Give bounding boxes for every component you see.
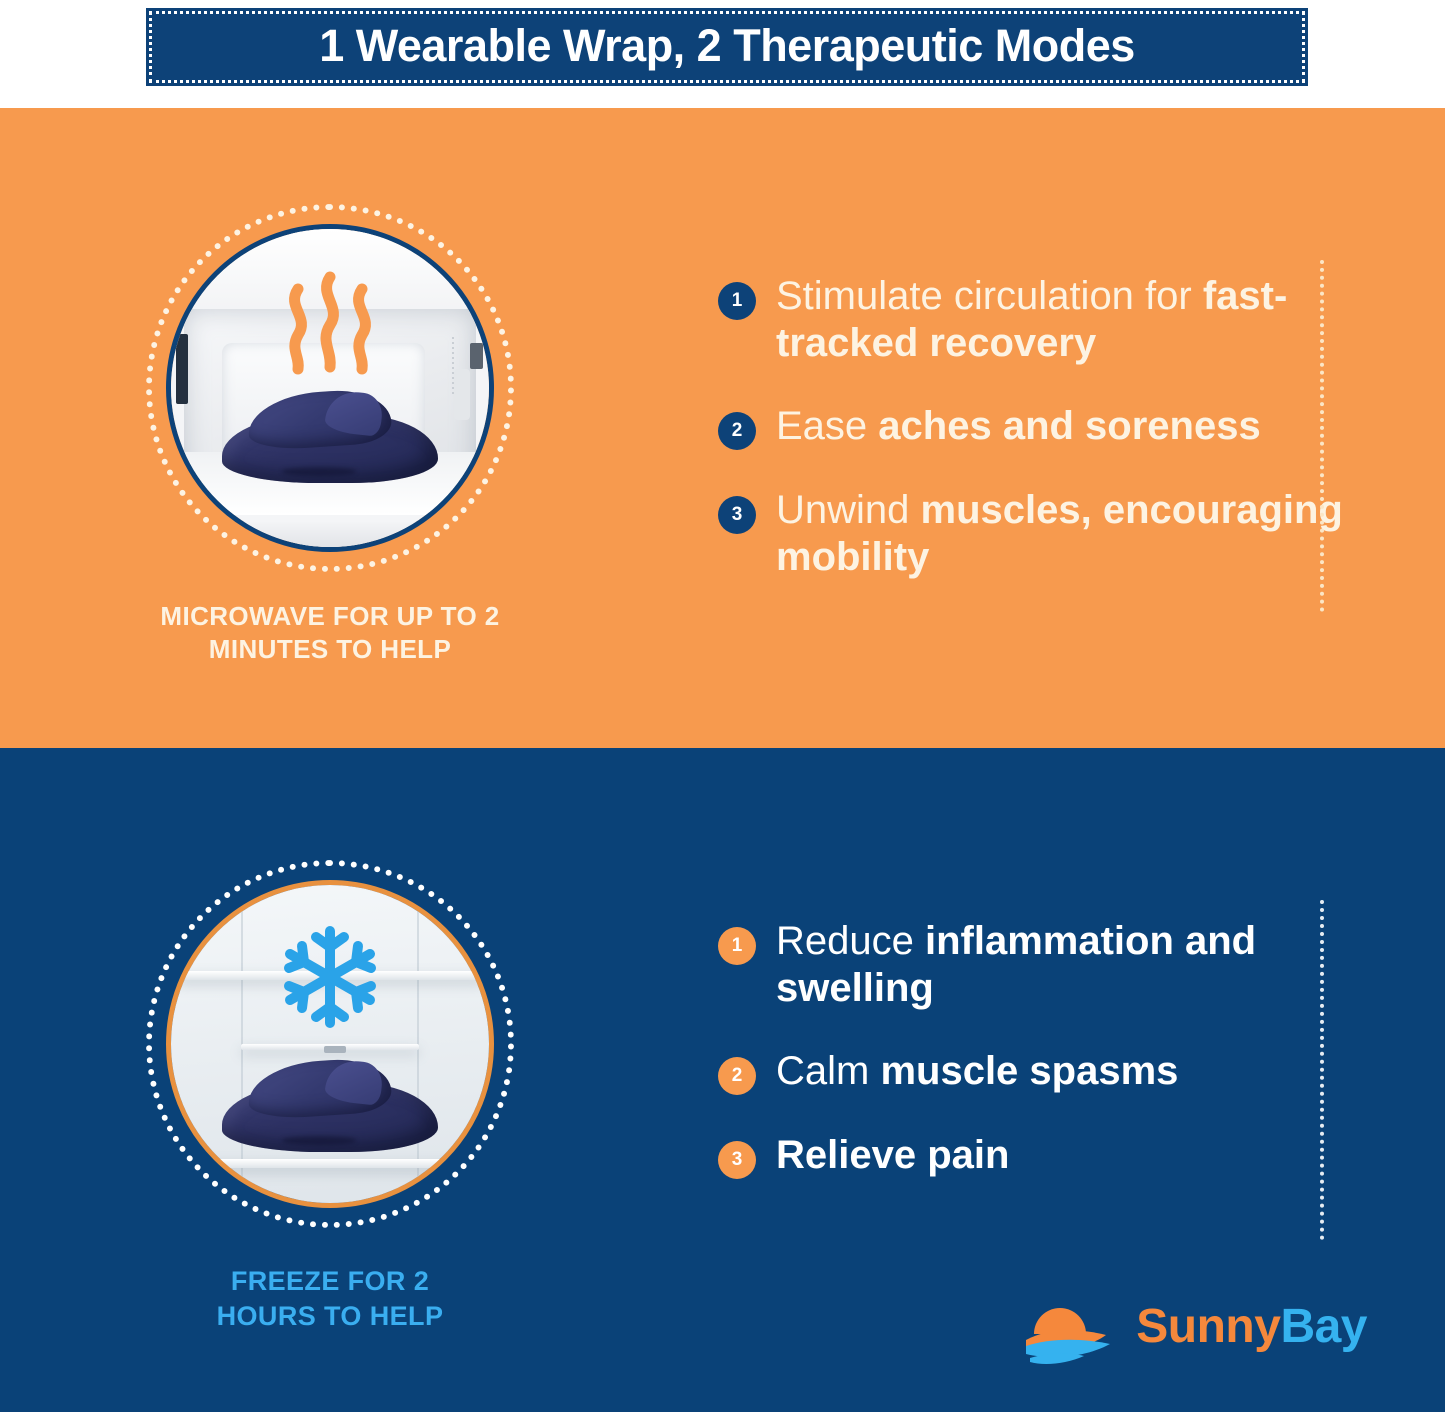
microwave-hinge [176,334,189,404]
benefit-lead-text: Stimulate circulation for [776,274,1203,318]
microwave-vent [452,337,454,394]
cold-caption: FREEZE FOR 2 HOURS TO HELP [217,1264,444,1333]
list-item: 1 Reduce inflammation and swelling [718,918,1445,1012]
benefit-lead-text: Reduce [776,919,925,963]
freezer-shelf-clip [324,1046,346,1053]
benefit-text: Calm muscle spasms [776,1048,1178,1095]
infographic-page: 1 Wearable Wrap, 2 Therapeutic Modes [0,0,1445,1412]
benefit-lead-text: Ease [776,404,878,448]
list-item: 2 Ease aches and soreness [718,403,1445,450]
microwave-circle-image [146,204,514,572]
benefit-number-badge: 1 [718,927,756,965]
benefit-lead-text: Unwind [776,488,921,532]
benefit-number-badge: 2 [718,1057,756,1095]
cold-benefits-list: 1 Reduce inflammation and swelling 2 Cal… [660,748,1445,1179]
heat-benefits-list: 1 Stimulate circulation for fast-tracked… [660,108,1445,581]
benefit-strong-text: muscle spasms [880,1049,1178,1093]
list-item: 3 Relieve pain [718,1132,1445,1179]
cold-media-column: FREEZE FOR 2 HOURS TO HELP [0,748,660,1412]
benefit-text: Ease aches and soreness [776,403,1261,450]
heat-therapy-section: MICROWAVE FOR UP TO 2 MINUTES TO HELP 1 … [0,108,1445,748]
list-item: 2 Calm muscle spasms [718,1048,1445,1095]
freezer-circle-image [146,860,514,1228]
heat-caption-line-1: MICROWAVE FOR UP TO 2 [160,600,499,633]
cold-dotted-divider [1320,900,1324,1240]
benefit-lead-text: Calm [776,1049,880,1093]
snowflake-icon [276,923,384,1031]
title-banner: 1 Wearable Wrap, 2 Therapeutic Modes [146,8,1308,86]
freezer-scene [171,885,489,1203]
heat-waves-icon [278,267,382,379]
navy-wrap-product [222,388,438,483]
sun-over-waves-icon [1026,1288,1130,1366]
freezer-shelf [177,1159,482,1168]
cold-caption-line-2: HOURS TO HELP [217,1299,444,1334]
brand-name-part-2: Bay [1280,1300,1367,1353]
title-banner-dotted-border: 1 Wearable Wrap, 2 Therapeutic Modes [149,11,1305,83]
benefit-strong-text: Relieve pain [776,1133,1009,1177]
heat-dotted-divider [1320,260,1324,612]
microwave-latch [470,343,483,368]
wrap-seam [282,467,356,476]
heat-caption-line-2: MINUTES TO HELP [160,633,499,666]
cold-therapy-section: FREEZE FOR 2 HOURS TO HELP 1 Reduce infl… [0,748,1445,1412]
navy-wrap-product [222,1057,438,1152]
microwave-base-strip [171,522,489,547]
list-item: 3 Unwind muscles, encouraging mobility [718,487,1445,581]
benefit-strong-text: aches and soreness [878,404,1260,448]
wrap-seam [282,1136,356,1145]
list-item: 1 Stimulate circulation for fast-tracked… [718,273,1445,367]
benefit-number-badge: 2 [718,412,756,450]
page-title: 1 Wearable Wrap, 2 Therapeutic Modes [319,23,1135,71]
heat-caption: MICROWAVE FOR UP TO 2 MINUTES TO HELP [160,600,499,667]
brand-logo: SunnyBay [1026,1284,1367,1370]
microwave-photo [166,224,494,552]
benefit-number-badge: 3 [718,496,756,534]
heat-media-column: MICROWAVE FOR UP TO 2 MINUTES TO HELP [0,108,660,748]
cold-caption-line-1: FREEZE FOR 2 [217,1264,444,1299]
microwave-scene [171,229,489,547]
benefit-number-badge: 3 [718,1141,756,1179]
brand-name-part-1: Sunny [1136,1300,1280,1353]
freezer-photo [166,880,494,1208]
benefit-text: Relieve pain [776,1132,1009,1179]
microwave-side-panel [454,369,470,420]
brand-wordmark: SunnyBay [1136,1303,1367,1351]
benefit-number-badge: 1 [718,282,756,320]
